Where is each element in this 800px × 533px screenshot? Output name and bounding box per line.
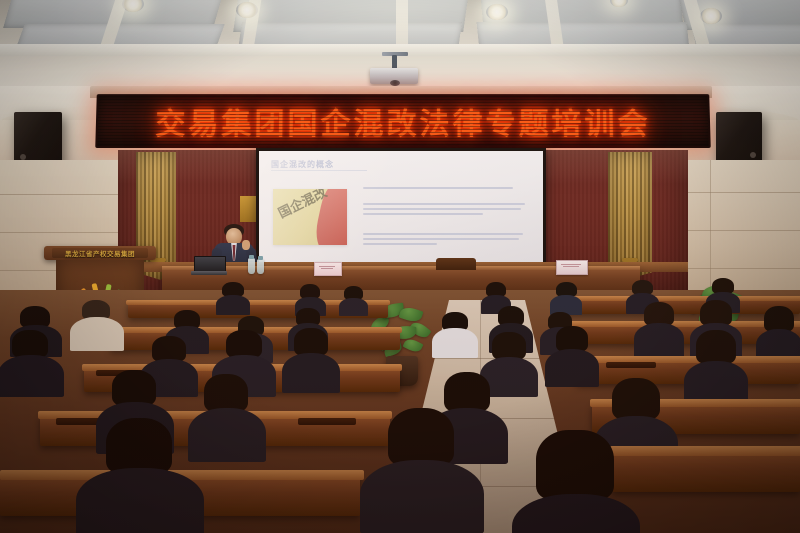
audience-shoulders: [545, 349, 599, 387]
bench-armrest: [606, 362, 656, 368]
lectern-name-plate-text: 黑龙江省产权交易集团: [65, 248, 135, 258]
audience-hair: [492, 332, 526, 360]
audience-shoulders: [76, 468, 204, 533]
audience-hair: [696, 330, 736, 364]
ceiling-glow: [0, 0, 800, 100]
audience-hair: [536, 430, 614, 500]
audience-shoulders: [360, 460, 484, 533]
name-card: [314, 262, 342, 276]
audience-hair: [612, 378, 660, 420]
right-side-wall: [676, 160, 800, 304]
bench-row: [612, 452, 800, 492]
audience-shoulders: [634, 323, 684, 357]
bench-desk-top: [610, 446, 800, 456]
wall-sign-character-partial: [240, 196, 256, 222]
table-chair: [436, 258, 476, 270]
bench-desk-top: [558, 296, 800, 301]
lectern-name-plate: 黑龙江省产权交易集团: [52, 248, 148, 258]
audience-hair: [388, 408, 454, 466]
audience-shoulders: [70, 317, 124, 351]
conference-hall-photo: 交易集团国企混改法律专题培训会 团 国企混改的概念: [0, 0, 800, 533]
audience-hair: [106, 418, 172, 474]
audience-shoulders: [0, 355, 64, 397]
audience-shoulders: [216, 295, 250, 315]
table-placard: [556, 260, 588, 275]
audience-hair: [444, 372, 490, 412]
audience-shoulders: [282, 353, 340, 393]
audience-shoulders: [432, 328, 478, 358]
bench-armrest: [298, 418, 356, 425]
audience-hair: [294, 328, 328, 356]
water-bottle: [248, 258, 255, 274]
audience-hair: [112, 370, 156, 406]
audience-hair: [226, 330, 262, 358]
audience-shoulders: [188, 408, 266, 462]
audience-hair: [204, 374, 248, 412]
audience-shoulders: [339, 298, 368, 316]
audience-hair: [12, 330, 48, 358]
led-scanline-overlay: [97, 96, 708, 146]
water-bottle: [257, 259, 264, 274]
laptop-base: [191, 271, 227, 275]
led-banner: 交易集团国企混改法律专题培训会: [95, 94, 711, 148]
projection-screen: 国企混改的概念 国企混改: [256, 148, 546, 270]
projector-arm: [392, 55, 397, 69]
presenter-hand: [242, 240, 250, 250]
water-bottle-cap: [249, 255, 254, 259]
right-wall-speaker: [716, 112, 762, 166]
water-bottle-cap: [258, 256, 263, 260]
screen-glare: [259, 151, 543, 267]
